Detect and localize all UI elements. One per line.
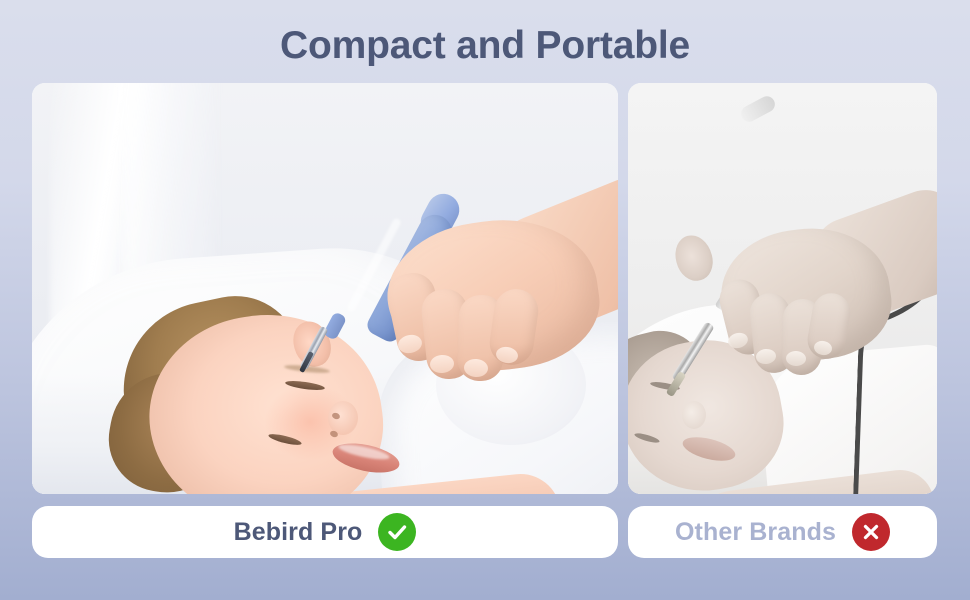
photo-panel-bebird-pro <box>32 83 618 494</box>
label-other-brands: Other Brands <box>675 518 836 547</box>
label-bar-bebird-pro: Bebird Pro <box>32 506 618 558</box>
child-nose <box>682 401 706 429</box>
label-bar-other-brands: Other Brands <box>628 506 937 558</box>
page-title: Compact and Portable <box>0 24 970 68</box>
product-photo-other-brands <box>628 83 937 494</box>
cross-circle-icon <box>852 513 890 551</box>
photo-panel-other-brands <box>628 83 937 494</box>
product-comparison-banner: Compact and Portable <box>0 0 970 600</box>
label-bebird-pro: Bebird Pro <box>234 518 363 547</box>
check-circle-icon <box>378 513 416 551</box>
product-photo-bebird-pro <box>32 83 618 494</box>
